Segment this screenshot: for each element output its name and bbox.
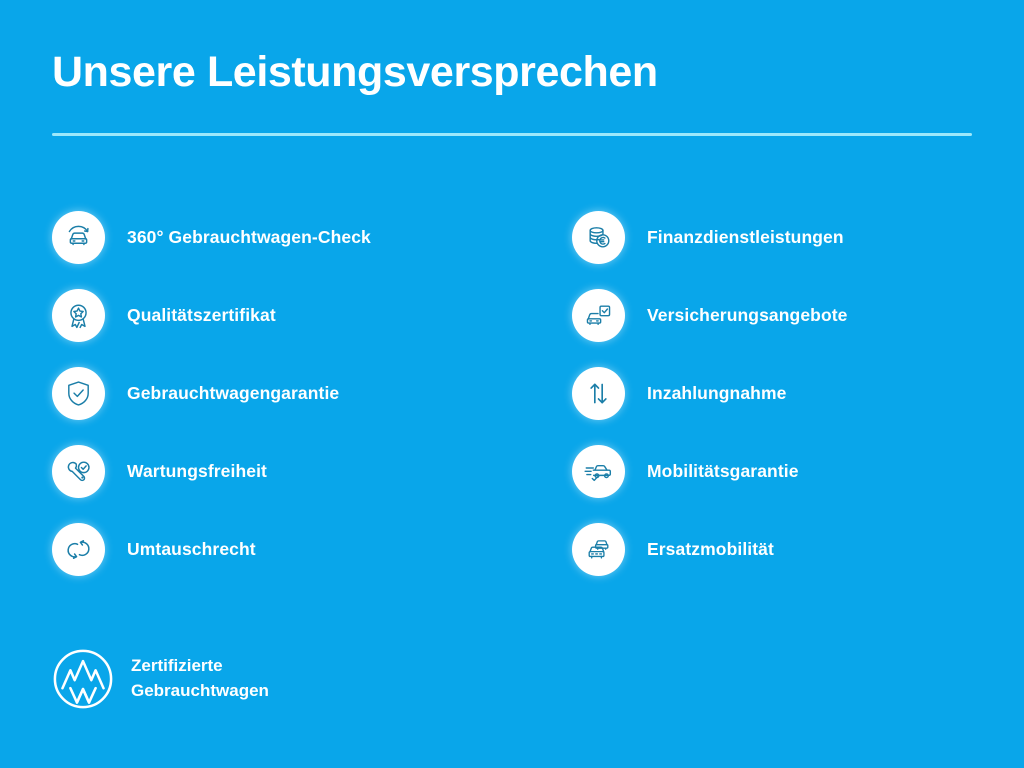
promise-label: Finanzdienstleistungen — [647, 227, 844, 248]
car-document-check-icon — [572, 289, 625, 342]
promise-item-replacement-mobility[interactable]: Ersatzmobilität — [0, 510, 848, 588]
promise-item-trade-in[interactable]: Inzahlungnahme — [0, 354, 848, 432]
title-divider — [52, 133, 972, 136]
promise-label: Mobilitätsgarantie — [647, 461, 799, 482]
arrows-up-down-icon — [572, 367, 625, 420]
vw-logo-icon — [52, 648, 114, 710]
page-title: Unsere Leistungsversprechen — [52, 50, 658, 95]
brand-lockup: Zertifizierte Gebrauchtwagen — [52, 648, 269, 710]
promise-label: Inzahlungnahme — [647, 383, 786, 404]
promise-label: Ersatzmobilität — [647, 539, 774, 560]
promise-item-financial-services[interactable]: Finanzdienstleistungen — [0, 198, 848, 276]
promise-column-right: Finanzdienstleistungen Versicherungsange… — [0, 198, 848, 588]
promise-label: Versicherungsangebote — [647, 305, 848, 326]
promise-item-insurance-offers[interactable]: Versicherungsangebote — [0, 276, 848, 354]
coins-euro-icon — [572, 211, 625, 264]
brand-line-2: Gebrauchtwagen — [131, 679, 269, 704]
brand-text: Zertifizierte Gebrauchtwagen — [131, 654, 269, 703]
promise-item-mobility-guarantee[interactable]: Mobilitätsgarantie — [0, 432, 848, 510]
brand-line-1: Zertifizierte — [131, 654, 269, 679]
car-motion-check-icon — [572, 445, 625, 498]
two-cars-icon — [572, 523, 625, 576]
